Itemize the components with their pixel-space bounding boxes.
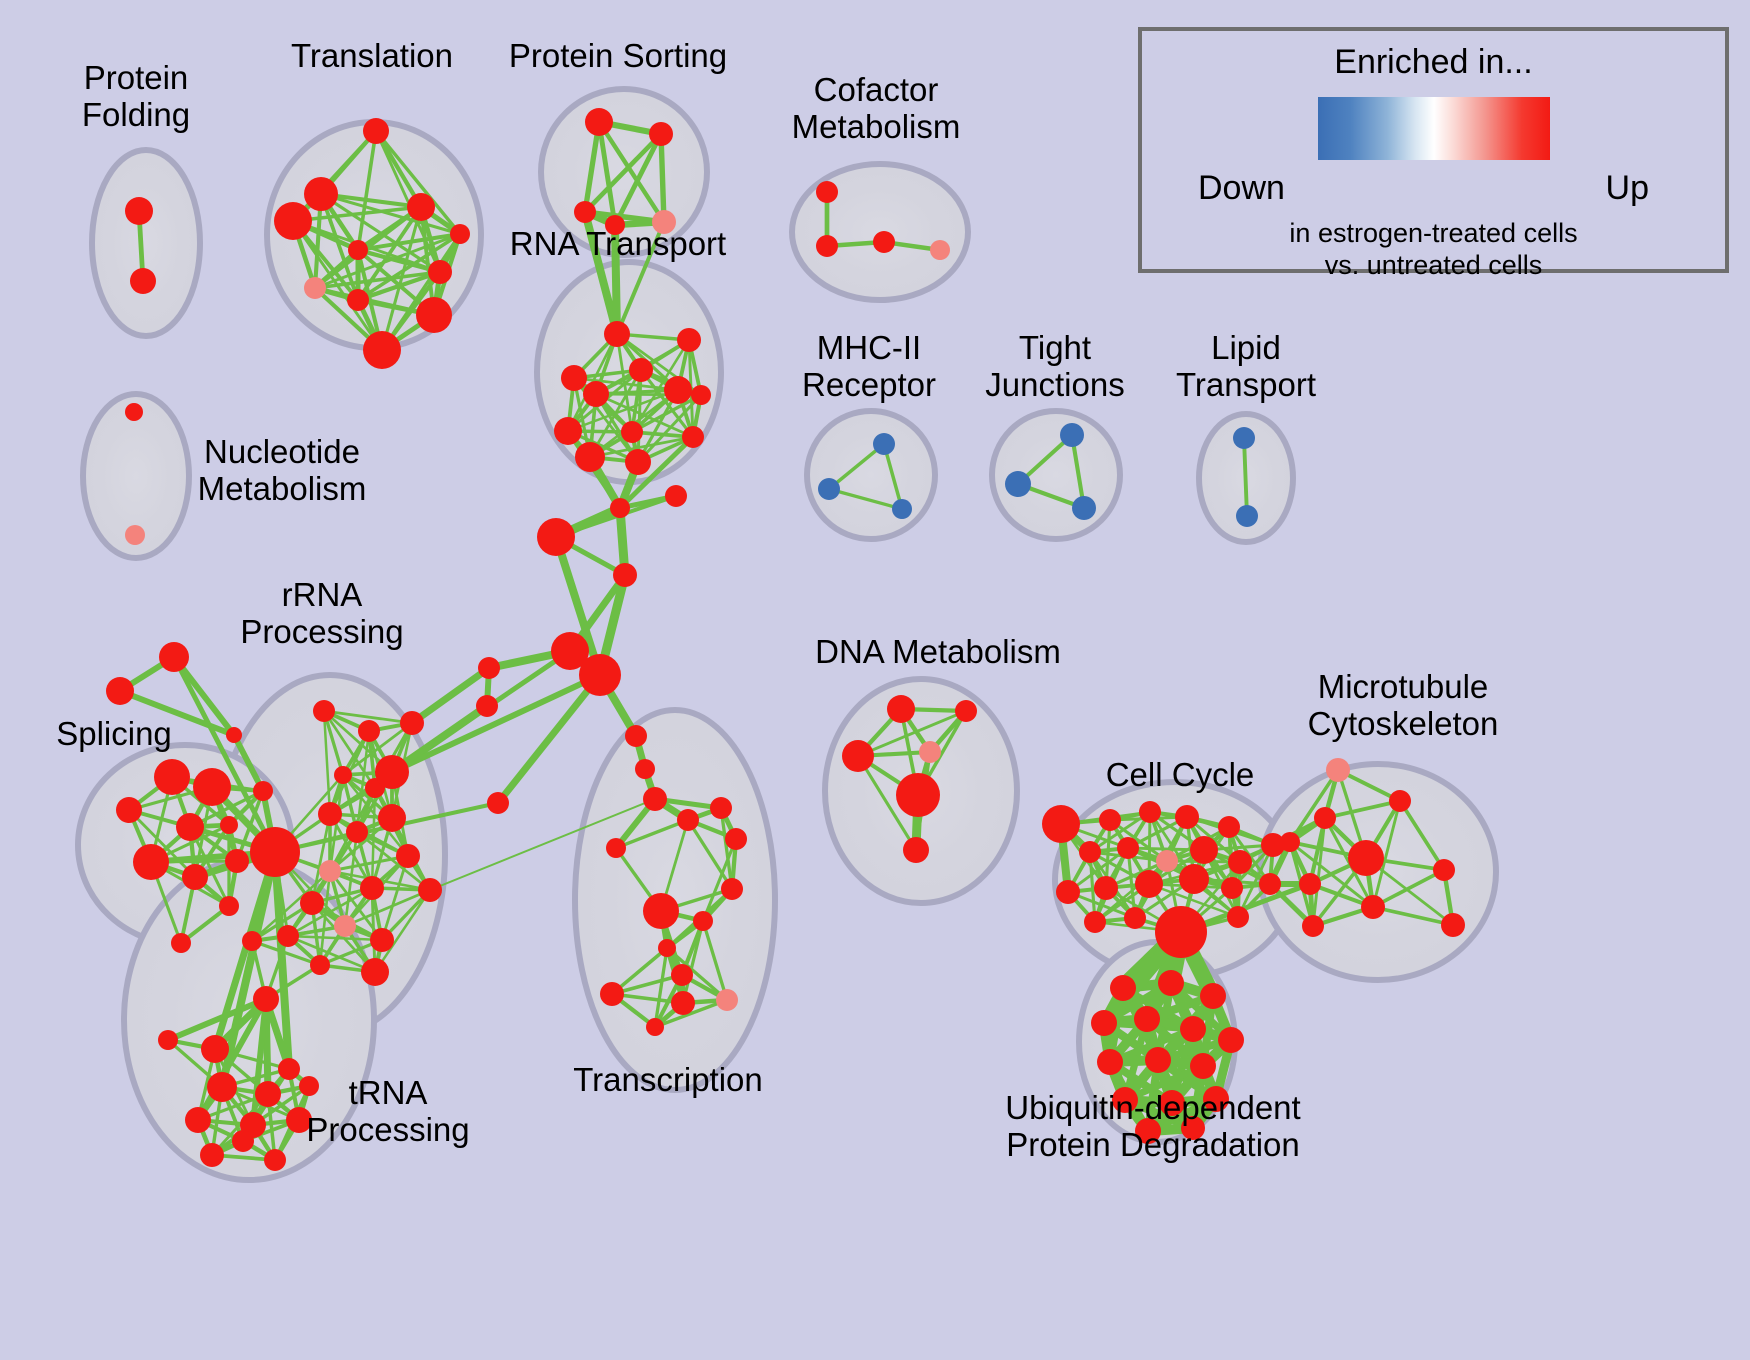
network-node[interactable] — [816, 181, 838, 203]
network-node[interactable] — [363, 331, 401, 369]
network-node[interactable] — [664, 376, 692, 404]
network-node[interactable] — [370, 928, 394, 952]
network-node[interactable] — [1091, 1010, 1117, 1036]
network-node[interactable] — [378, 804, 406, 832]
cluster-hull-protein-folding — [92, 150, 200, 336]
network-node[interactable] — [1190, 1053, 1216, 1079]
network-node[interactable] — [428, 260, 452, 284]
enrichment-map-figure: ProteinFoldingTranslationProtein Sorting… — [0, 0, 1750, 1360]
network-node[interactable] — [716, 989, 738, 1011]
network-node[interactable] — [346, 821, 368, 843]
legend-high-label: Up — [1606, 169, 1649, 208]
network-node[interactable] — [407, 193, 435, 221]
network-node[interactable] — [476, 695, 498, 717]
network-node[interactable] — [1203, 1086, 1229, 1112]
network-node[interactable] — [1236, 505, 1258, 527]
network-node[interactable] — [358, 720, 380, 742]
network-node[interactable] — [1228, 850, 1252, 874]
legend-low-label: Down — [1198, 169, 1285, 208]
network-node[interactable] — [319, 860, 341, 882]
network-node[interactable] — [919, 741, 941, 763]
network-node[interactable] — [363, 118, 389, 144]
network-node[interactable] — [347, 289, 369, 311]
network-node[interactable] — [1233, 427, 1255, 449]
network-node[interactable] — [1124, 907, 1146, 929]
network-node[interactable] — [955, 700, 977, 722]
network-node[interactable] — [274, 202, 312, 240]
legend-color-gradient — [1318, 97, 1550, 160]
network-node[interactable] — [574, 201, 596, 223]
network-edge — [498, 675, 600, 803]
network-node[interactable] — [585, 108, 613, 136]
network-node[interactable] — [1200, 983, 1226, 1009]
network-node[interactable] — [133, 844, 169, 880]
network-node[interactable] — [418, 878, 442, 902]
network-node[interactable] — [253, 986, 279, 1012]
network-node[interactable] — [561, 365, 587, 391]
network-node[interactable] — [575, 442, 605, 472]
network-node[interactable] — [725, 828, 747, 850]
network-node[interactable] — [250, 827, 300, 877]
network-node[interactable] — [220, 816, 238, 834]
network-node[interactable] — [125, 197, 153, 225]
network-node[interactable] — [334, 915, 356, 937]
network-node[interactable] — [1348, 840, 1384, 876]
network-node[interactable] — [665, 485, 687, 507]
network-node[interactable] — [286, 1107, 312, 1133]
network-node[interactable] — [232, 1130, 254, 1152]
network-node[interactable] — [348, 240, 368, 260]
network-node[interactable] — [1156, 850, 1178, 872]
network-node[interactable] — [1280, 832, 1300, 852]
network-node[interactable] — [1060, 423, 1084, 447]
network-node[interactable] — [116, 797, 142, 823]
network-node[interactable] — [478, 657, 500, 679]
network-node[interactable] — [1079, 841, 1101, 863]
network-node[interactable] — [1433, 859, 1455, 881]
network-node[interactable] — [1314, 807, 1336, 829]
network-node[interactable] — [1145, 1047, 1171, 1073]
network-node[interactable] — [625, 725, 647, 747]
legend-title: Enriched in... — [1142, 43, 1725, 82]
network-node[interactable] — [1175, 805, 1199, 829]
network-node[interactable] — [643, 787, 667, 811]
network-node[interactable] — [255, 1081, 281, 1107]
network-node[interactable] — [903, 837, 929, 863]
network-node[interactable] — [360, 876, 384, 900]
network-node[interactable] — [621, 421, 643, 443]
network-node[interactable] — [318, 802, 342, 826]
network-node[interactable] — [193, 768, 231, 806]
network-node[interactable] — [1056, 880, 1080, 904]
network-node[interactable] — [554, 417, 582, 445]
network-node[interactable] — [892, 499, 912, 519]
network-node[interactable] — [1135, 1118, 1161, 1144]
network-node[interactable] — [361, 958, 389, 986]
network-node[interactable] — [629, 358, 653, 382]
network-node[interactable] — [649, 122, 673, 146]
network-node[interactable] — [721, 878, 743, 900]
network-node[interactable] — [643, 893, 679, 929]
network-node[interactable] — [200, 1143, 224, 1167]
network-node[interactable] — [154, 759, 190, 795]
network-node[interactable] — [583, 381, 609, 407]
network-node[interactable] — [253, 781, 273, 801]
network-node[interactable] — [605, 215, 625, 235]
network-node[interactable] — [1227, 906, 1249, 928]
network-node[interactable] — [710, 797, 732, 819]
network-node[interactable] — [677, 328, 701, 352]
network-node[interactable] — [579, 654, 621, 696]
network-node[interactable] — [1221, 877, 1243, 899]
legend-subtitle-line2: vs. untreated cells — [1142, 249, 1725, 281]
legend-box: Enriched in... Down Up in estrogen-treat… — [1138, 27, 1729, 273]
network-node[interactable] — [873, 433, 895, 455]
network-node[interactable] — [207, 1072, 237, 1102]
network-node[interactable] — [1259, 873, 1281, 895]
network-node[interactable] — [1110, 975, 1136, 1001]
network-node[interactable] — [225, 849, 249, 873]
network-node[interactable] — [171, 933, 191, 953]
network-node[interactable] — [610, 498, 630, 518]
network-node[interactable] — [1218, 816, 1240, 838]
network-node[interactable] — [1112, 1087, 1138, 1113]
network-node[interactable] — [487, 792, 509, 814]
network-node[interactable] — [658, 939, 676, 957]
network-node[interactable] — [930, 240, 950, 260]
cluster-hull-mhc-ii-receptor — [807, 411, 935, 539]
network-node[interactable] — [300, 891, 324, 915]
network-node[interactable] — [693, 911, 713, 931]
network-node[interactable] — [106, 677, 134, 705]
network-node[interactable] — [613, 563, 637, 587]
network-node[interactable] — [1158, 970, 1184, 996]
network-node[interactable] — [1159, 1090, 1185, 1116]
network-node[interactable] — [450, 224, 470, 244]
network-node[interactable] — [691, 385, 711, 405]
network-node[interactable] — [604, 321, 630, 347]
network-node[interactable] — [1084, 911, 1106, 933]
network-node[interactable] — [537, 518, 575, 556]
network-node[interactable] — [1299, 873, 1321, 895]
network-node[interactable] — [1135, 870, 1163, 898]
network-node[interactable] — [396, 844, 420, 868]
network-node[interactable] — [873, 231, 895, 253]
network-node[interactable] — [1326, 758, 1350, 782]
network-node[interactable] — [1190, 836, 1218, 864]
network-node[interactable] — [818, 478, 840, 500]
network-node[interactable] — [400, 711, 424, 735]
network-node[interactable] — [816, 235, 838, 257]
network-node[interactable] — [375, 755, 409, 789]
network-node[interactable] — [625, 449, 651, 475]
network-node[interactable] — [1179, 864, 1209, 894]
network-node[interactable] — [299, 1076, 319, 1096]
network-node[interactable] — [226, 727, 242, 743]
network-node[interactable] — [310, 955, 330, 975]
network-node[interactable] — [646, 1018, 664, 1036]
network-node[interactable] — [185, 1107, 211, 1133]
network-node[interactable] — [1097, 1049, 1123, 1075]
network-edge — [615, 225, 617, 334]
network-node[interactable] — [334, 766, 352, 784]
network-node[interactable] — [277, 925, 299, 947]
network-node[interactable] — [1117, 837, 1139, 859]
network-node[interactable] — [887, 695, 915, 723]
network-node[interactable] — [1180, 1016, 1206, 1042]
legend-subtitle-line1: in estrogen-treated cells — [1142, 217, 1725, 249]
network-node[interactable] — [125, 403, 143, 421]
network-node[interactable] — [219, 896, 239, 916]
legend-subtitle: in estrogen-treated cells vs. untreated … — [1142, 217, 1725, 282]
network-node[interactable] — [130, 268, 156, 294]
network-node[interactable] — [1181, 1116, 1205, 1140]
network-node[interactable] — [1441, 913, 1465, 937]
network-node[interactable] — [682, 426, 704, 448]
network-node[interactable] — [606, 838, 626, 858]
network-node[interactable] — [1042, 805, 1080, 843]
network-node[interactable] — [1139, 801, 1161, 823]
network-node[interactable] — [677, 809, 699, 831]
network-node[interactable] — [1389, 790, 1411, 812]
network-node[interactable] — [1134, 1006, 1160, 1032]
cluster-hull-microtubule-cytoskeleton — [1260, 764, 1496, 980]
network-node[interactable] — [1094, 876, 1118, 900]
network-node[interactable] — [158, 1030, 178, 1050]
network-node[interactable] — [1099, 809, 1121, 831]
network-node[interactable] — [304, 177, 338, 211]
network-node[interactable] — [304, 277, 326, 299]
network-node[interactable] — [201, 1035, 229, 1063]
network-node[interactable] — [671, 991, 695, 1015]
network-node[interactable] — [182, 864, 208, 890]
network-node[interactable] — [313, 700, 335, 722]
network-node[interactable] — [635, 759, 655, 779]
network-node[interactable] — [176, 813, 204, 841]
network-node[interactable] — [416, 297, 452, 333]
network-node[interactable] — [600, 982, 624, 1006]
network-node[interactable] — [278, 1058, 300, 1080]
network-node[interactable] — [242, 931, 262, 951]
network-node[interactable] — [125, 525, 145, 545]
network-node[interactable] — [652, 210, 676, 234]
network-node[interactable] — [1072, 496, 1096, 520]
network-node[interactable] — [264, 1149, 286, 1171]
network-node[interactable] — [1361, 895, 1385, 919]
network-edge — [661, 134, 664, 222]
network-node[interactable] — [1155, 906, 1207, 958]
network-node[interactable] — [1302, 915, 1324, 937]
network-node[interactable] — [1218, 1027, 1244, 1053]
network-node[interactable] — [671, 964, 693, 986]
network-node[interactable] — [159, 642, 189, 672]
network-node[interactable] — [842, 740, 874, 772]
network-node[interactable] — [896, 773, 940, 817]
network-node[interactable] — [1005, 471, 1031, 497]
